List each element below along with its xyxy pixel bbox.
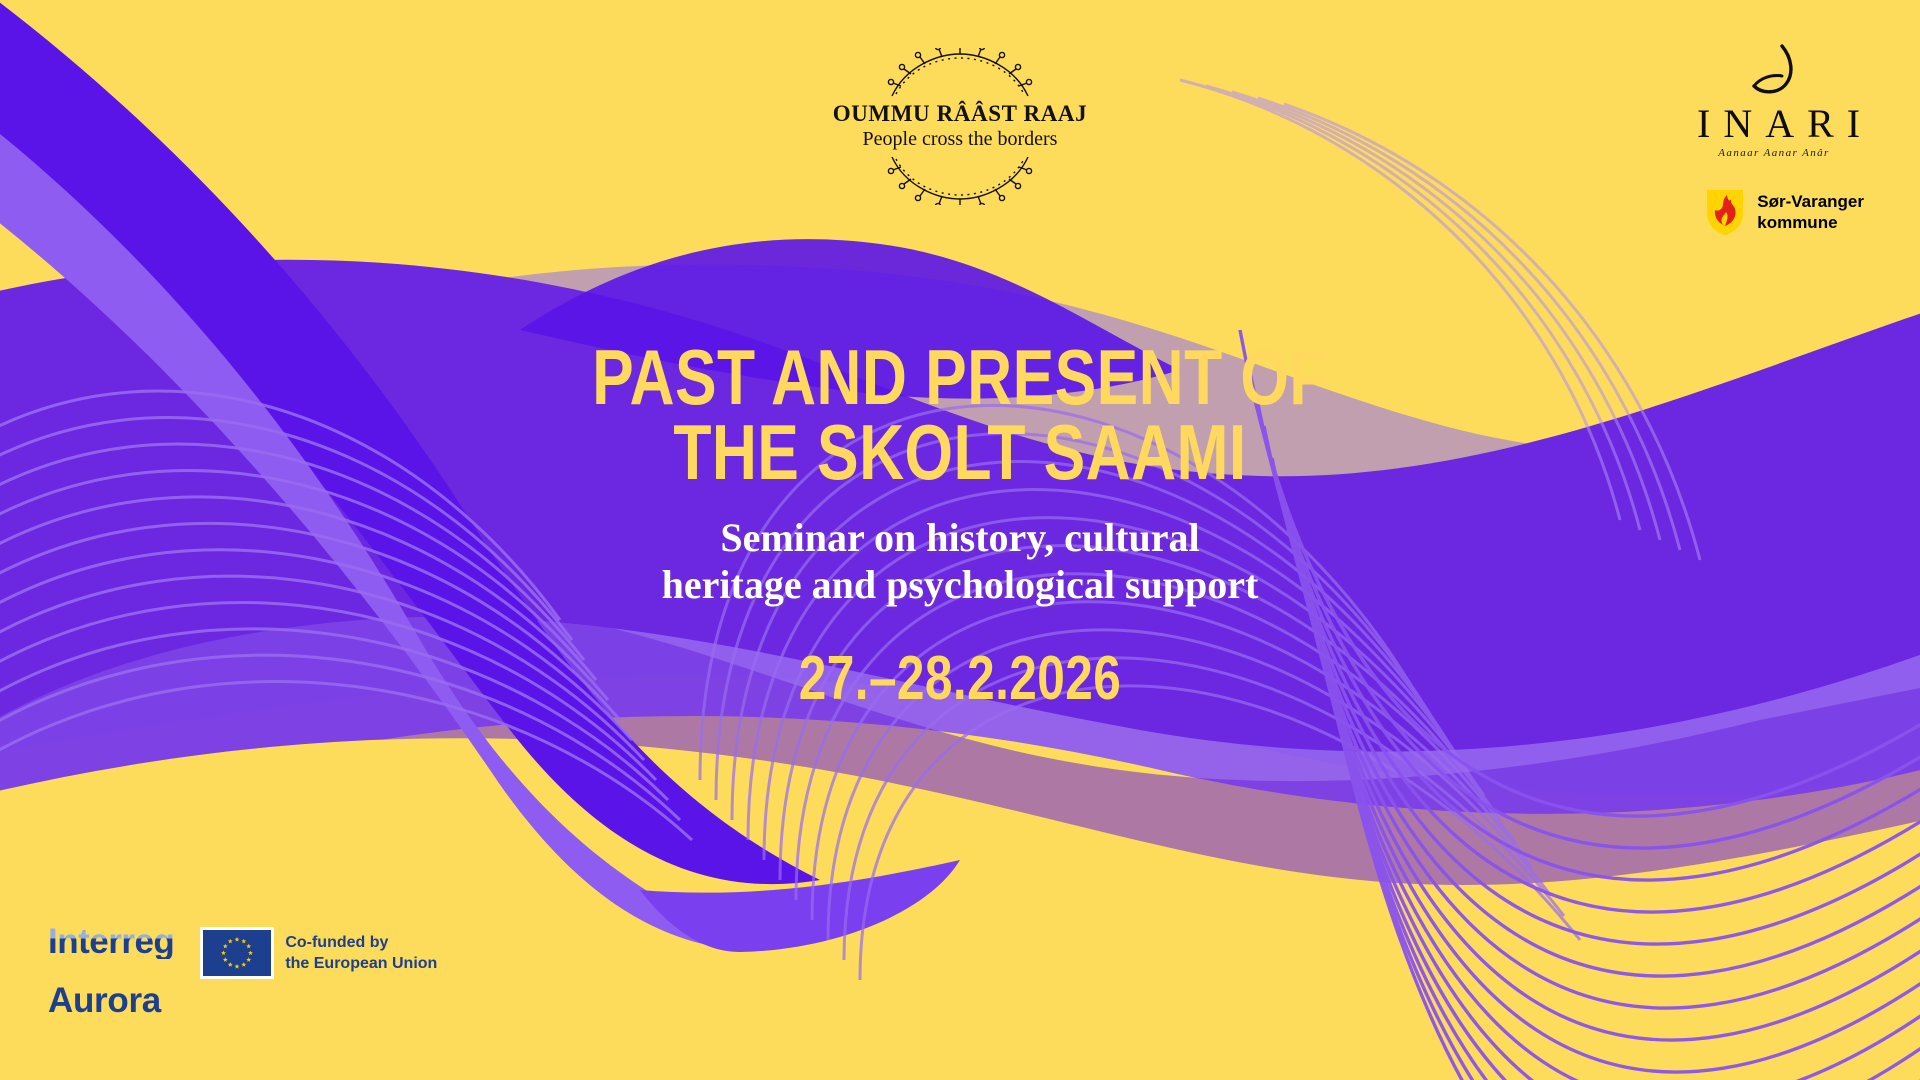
kommune-line1: Sør-Varanger bbox=[1757, 192, 1864, 211]
emblem-title: OUMMU RÂÂST RAAJ bbox=[810, 102, 1110, 125]
funding-logos: Interreg Aurora Co-funded by the Europea… bbox=[48, 924, 437, 1018]
sor-varanger-kommune-logo: Sør-Varanger kommune bbox=[1705, 188, 1864, 236]
interreg-programme: Aurora bbox=[48, 983, 174, 1018]
flame-shield-icon bbox=[1705, 188, 1745, 236]
european-union-flag-icon bbox=[200, 927, 274, 979]
interreg-row: Interreg Aurora Co-funded by the Europea… bbox=[48, 924, 437, 1018]
inari-wordmark: INARI bbox=[1684, 104, 1864, 144]
inari-swoosh-mark-icon bbox=[1742, 44, 1806, 102]
interreg-word: Interreg bbox=[48, 924, 174, 959]
inari-tagline: Aanaar Aanar Anâr bbox=[1684, 147, 1864, 159]
crown-arc-ornament-inverted-icon bbox=[880, 153, 1040, 205]
inari-logo: INARI Aanaar Aanar Anâr bbox=[1684, 44, 1864, 159]
title-line-1: PAST AND PRESENT OF bbox=[192, 340, 1728, 415]
crown-arc-ornament-icon bbox=[880, 48, 1040, 100]
eu-line-2: the European Union bbox=[285, 953, 437, 974]
kommune-text: Sør-Varanger kommune bbox=[1757, 191, 1864, 234]
hero-text-block: PAST AND PRESENT OF THE SKOLT SAAMI Semi… bbox=[0, 340, 1920, 710]
oummu-raast-raaj-emblem: OUMMU RÂÂST RAAJ People cross the border… bbox=[810, 48, 1110, 205]
kommune-line2: kommune bbox=[1757, 213, 1837, 232]
event-date: 27.–28.2.2026 bbox=[192, 648, 1728, 710]
page-subtitle: Seminar on history, cultural heritage an… bbox=[0, 514, 1920, 608]
subtitle-line-1: Seminar on history, cultural bbox=[0, 514, 1920, 561]
eu-line-1: Co-funded by bbox=[285, 932, 437, 953]
eu-funding-block: Co-funded by the European Union bbox=[200, 927, 437, 979]
eu-funding-text: Co-funded by the European Union bbox=[285, 932, 437, 974]
interreg-wordmark: Interreg bbox=[48, 924, 174, 959]
emblem-subtitle: People cross the borders bbox=[810, 128, 1110, 151]
poster-canvas: OUMMU RÂÂST RAAJ People cross the border… bbox=[0, 0, 1920, 1080]
subtitle-line-2: heritage and psychological support bbox=[0, 561, 1920, 608]
title-line-2: THE SKOLT SAAMI bbox=[192, 415, 1728, 490]
page-title: PAST AND PRESENT OF THE SKOLT SAAMI bbox=[192, 340, 1728, 490]
